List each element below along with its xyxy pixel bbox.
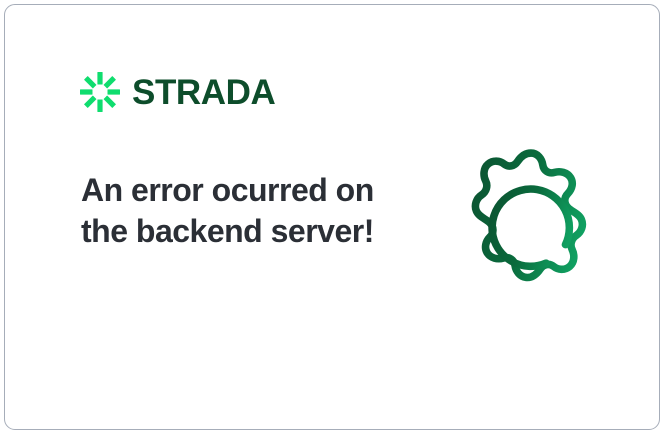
brand-wordmark: STRADA: [132, 75, 275, 110]
gear-cog-icon: [447, 143, 615, 311]
brand-logo: STRADA: [79, 71, 275, 113]
error-headline: An error ocurred on the backend server!: [81, 170, 381, 252]
strada-starburst-icon: [79, 71, 121, 113]
error-card: STRADA An error ocurred on the backend s…: [4, 4, 660, 430]
